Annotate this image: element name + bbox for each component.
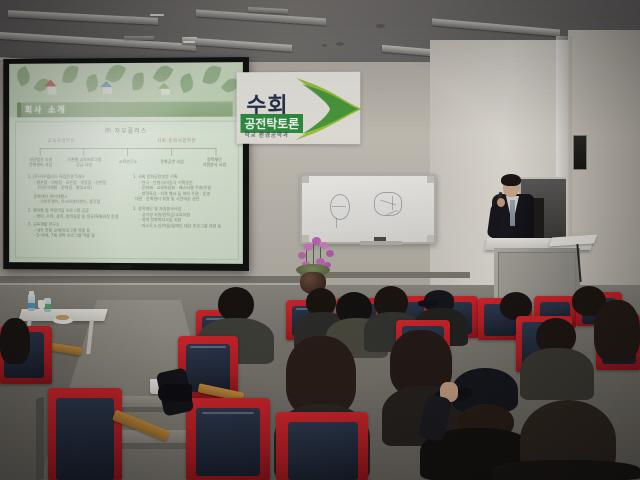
audience-head	[218, 287, 254, 321]
house-icon	[48, 86, 57, 94]
ceiling-fixture	[336, 42, 344, 46]
org-cell: 교육연구소	[107, 159, 149, 164]
slide: 회사 소개 ㈜ 자우플러스 교육사업부문 사회·문화사업부문 사단법인 부설 문…	[9, 62, 243, 264]
slide-line: (어린이체험 · 문화점 · 평생교육)	[28, 185, 125, 191]
presenter-tie	[510, 200, 515, 226]
audience-boot	[158, 384, 192, 402]
orchid-bloom	[326, 250, 334, 257]
org-cell: 사단법인 부설 문화센터 사업	[20, 157, 61, 167]
ceiling-fixture	[376, 24, 385, 28]
org-connector	[215, 148, 216, 156]
whiteboard-sketch	[330, 194, 350, 220]
seat-pad	[196, 408, 260, 476]
slide-line: - 5~6세, 7세 과학 프로그램 적용 등	[28, 233, 125, 239]
presenter-hand	[497, 198, 505, 207]
leaf-icon	[84, 74, 100, 93]
screen-surface: 회사 소개 ㈜ 자우플러스 교육사업부문 사회·문화사업부문 사단법인 부설 문…	[9, 62, 243, 264]
aisle-edge	[36, 397, 44, 480]
projection-screen: 회사 소개 ㈜ 자우플러스 교육사업부문 사회·문화사업부문 사단법인 부설 문…	[3, 57, 249, 271]
lecture-hall-photo: 회사 소개 ㈜ 자우플러스 교육사업부문 사회·문화사업부문 사단법인 부설 문…	[0, 0, 640, 480]
ceiling-light-highlight	[183, 41, 195, 43]
whiteboard-corner	[427, 235, 434, 242]
bottle-label	[28, 303, 35, 308]
whiteboard	[300, 174, 436, 244]
org-connector	[83, 148, 84, 156]
house-icon	[161, 89, 170, 95]
slide-line: - 저소득 노인/아동/장애인 대상 프로그램 지원 등	[133, 223, 234, 229]
banner-caption: 학교 환경공학과	[244, 130, 288, 139]
whiteboard-corner	[302, 235, 309, 242]
seat-highlight	[190, 346, 226, 348]
audience-hair	[0, 318, 30, 364]
org-connector	[127, 148, 128, 156]
snack-food	[56, 315, 69, 320]
orchid-bloom	[304, 243, 313, 251]
slide-body: ㈜ 자우플러스 교육사업부문 사회·문화사업부문 사단법인 부설 문화센터 사업…	[15, 121, 239, 260]
bottle-cap	[29, 291, 34, 295]
seat-pad	[288, 422, 358, 480]
paper-cup	[38, 300, 45, 309]
whiteboard-corner	[302, 176, 309, 183]
org-cell: 장학재단 지원봉사 사업	[193, 157, 236, 167]
seat-highlight	[202, 412, 254, 414]
slide-title: 회사 소개	[25, 104, 67, 115]
audience-hair	[594, 300, 640, 362]
leaf-icon	[178, 73, 196, 94]
org-cell: 기관별 교육프로그램 공급 사업	[63, 157, 105, 167]
slide-line: 대관 · 문화센터 회원 및 시민대상 공연	[133, 196, 234, 202]
ceiling-vent	[596, 16, 616, 20]
screen-bottom-clip	[110, 265, 132, 269]
slide-org-heading: ㈜ 자우플러스	[16, 126, 238, 136]
audience-shoulders	[492, 460, 640, 480]
slide-text-right: 1. 사회 문화공연부문 기획 - 연극 · 인형극/아동극 기획공연 - 문화…	[133, 174, 234, 229]
wall-baseboard	[0, 276, 300, 283]
whiteboard-eraser[interactable]	[374, 237, 386, 241]
division-label-right: 사회·문화사업부문	[157, 138, 196, 144]
presenter-hair	[501, 174, 521, 186]
slide-text-left: 1. (주)자우플러스 직접운영 5개소 - 평촌점 · 의왕점 · 모란점 ·…	[28, 174, 125, 239]
division-label-left: 교육사업부문	[48, 138, 76, 144]
cap-brim-icon	[418, 300, 438, 307]
leaf-icon	[152, 62, 173, 85]
ceiling-fixture	[322, 44, 327, 47]
slide-line: - 스마트센터, 아시아센터센터, 광진점	[28, 199, 125, 205]
leaf-icon	[202, 64, 222, 86]
leaf-icon	[62, 64, 79, 84]
seat-pad	[56, 398, 114, 480]
house-icon	[103, 87, 112, 94]
org-connector	[40, 148, 41, 156]
bottle-label	[44, 304, 51, 309]
ceiling-light	[124, 36, 154, 40]
orchid-bloom	[320, 242, 328, 249]
whiteboard-sketch	[336, 218, 337, 228]
leaf-icon	[131, 72, 144, 90]
leaf-icon	[14, 66, 33, 87]
whiteboard-sketch	[332, 206, 346, 207]
whiteboard-sketch	[392, 196, 393, 210]
orchid-bloom	[298, 252, 306, 259]
org-connector	[171, 148, 172, 156]
slide-line: - 영어, 수학, 과학, 창의융합 등 정규/특별과정 운영	[28, 213, 125, 219]
wall-banner: 수회 공전탁토론 학교 환경공학과	[237, 72, 361, 145]
whiteboard-corner	[427, 176, 434, 183]
audience-shoulders	[520, 348, 594, 400]
wall-speaker	[573, 135, 587, 170]
ceiling-light-highlight	[150, 14, 164, 16]
whiteboard-tray	[360, 241, 402, 245]
org-cell: 문화공연 사업	[151, 159, 193, 164]
